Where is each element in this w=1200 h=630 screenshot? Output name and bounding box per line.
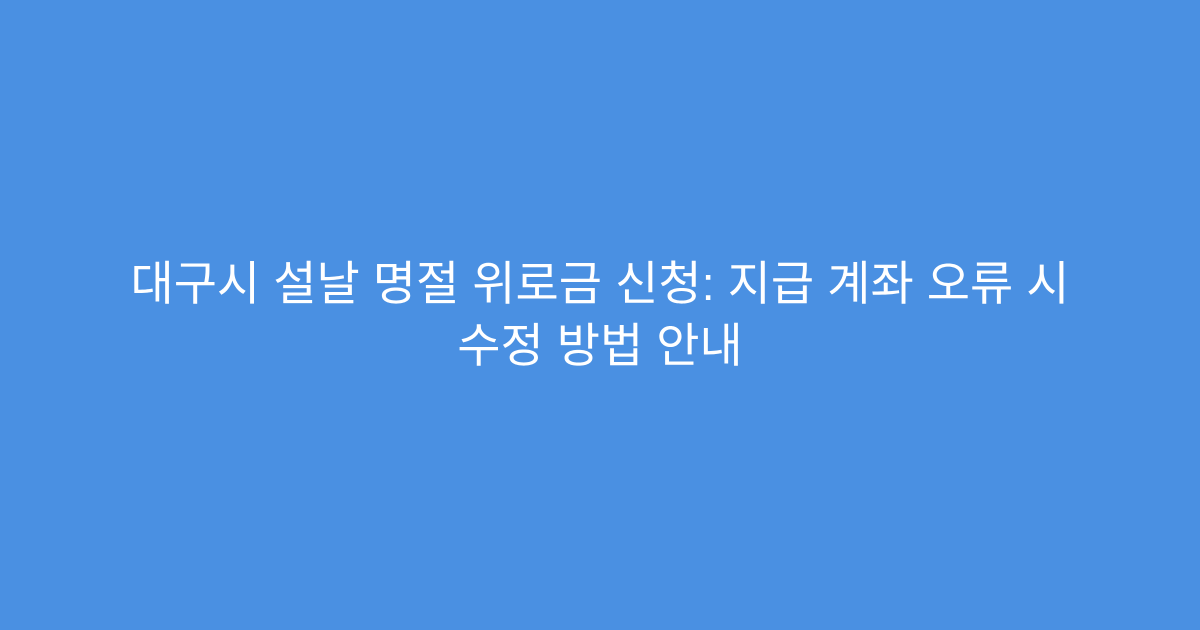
og-share-card: 대구시 설날 명절 위로금 신청: 지급 계좌 오류 시 수정 방법 안내 — [0, 0, 1200, 630]
page-title: 대구시 설날 명절 위로금 신청: 지급 계좌 오류 시 수정 방법 안내 — [71, 253, 1129, 377]
headline-block: 대구시 설날 명절 위로금 신청: 지급 계좌 오류 시 수정 방법 안내 — [55, 253, 1145, 377]
